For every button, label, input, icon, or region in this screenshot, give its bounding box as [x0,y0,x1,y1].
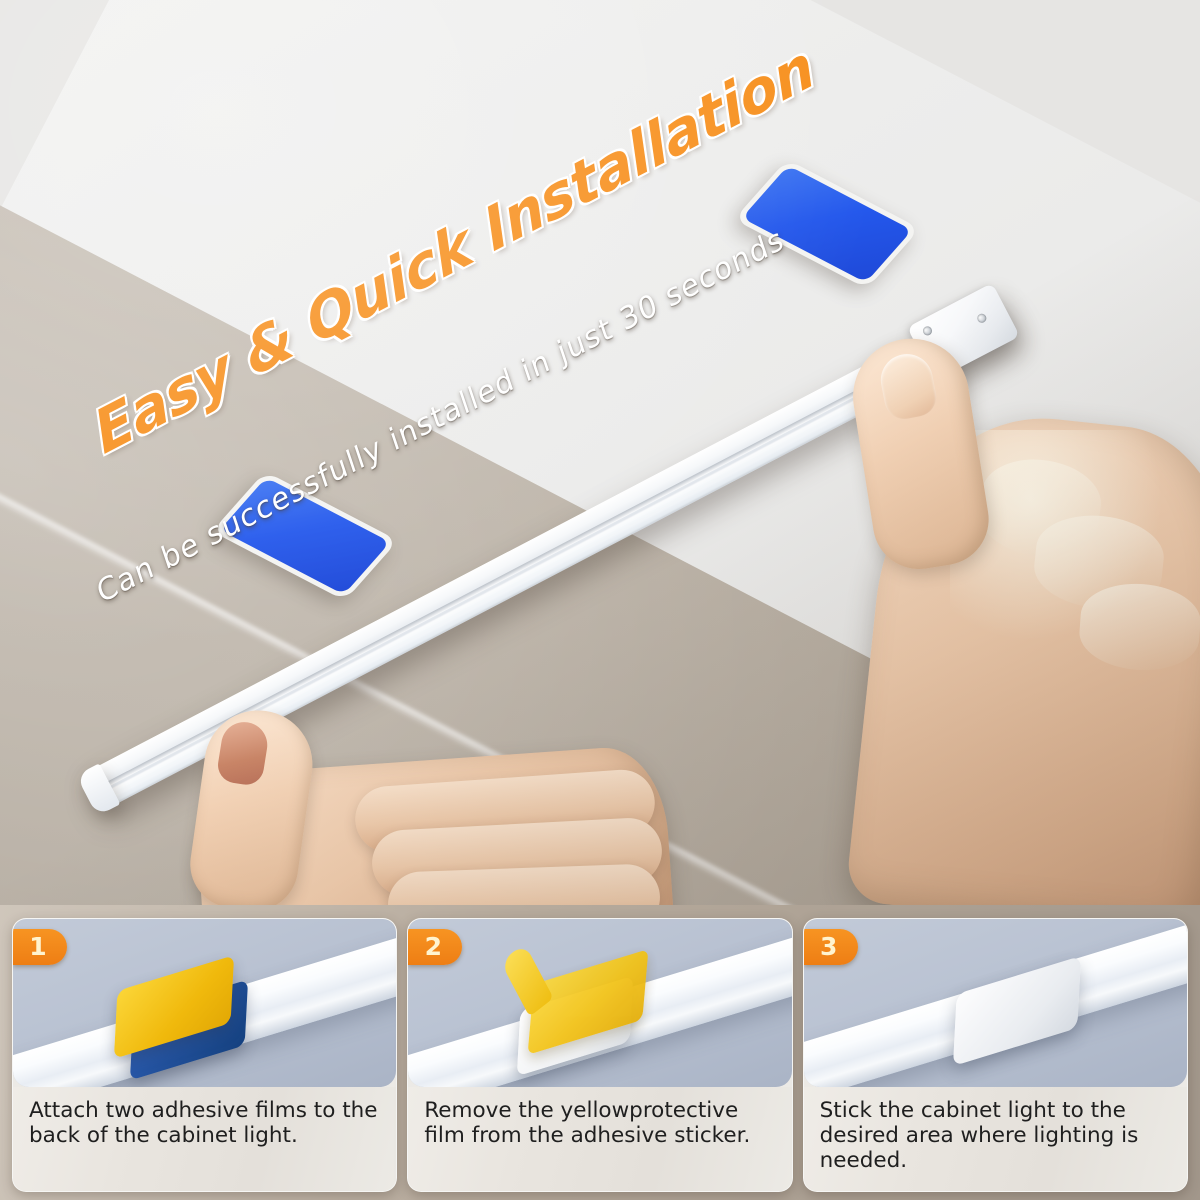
step-1-badge: 1 [13,929,67,965]
step-card-1: 1 Attach two adhesive films to the back … [12,918,397,1192]
hero-scene: Easy & Quick Installation Can be success… [0,0,1200,905]
step-card-3: 3 Stick the cabinet light to the desired… [803,918,1188,1192]
step-2-photo: 2 [408,919,791,1087]
step-3-caption: Stick the cabinet light to the desired a… [804,1087,1187,1191]
right-hand-light-glow [950,430,1180,660]
step-3-badge: 3 [804,929,858,965]
step-card-2: 2 Remove the yellowprotective film from … [407,918,792,1192]
step-1-photo: 1 [13,919,396,1087]
step-1-caption: Attach two adhesive films to the back of… [13,1087,396,1191]
step-3-photo: 3 [804,919,1187,1087]
left-hand [120,700,680,905]
step-3-applied-pad [953,956,1081,1066]
right-hand [830,300,1200,905]
step-2-caption: Remove the yellowprotective film from th… [408,1087,791,1191]
step-2-badge: 2 [408,929,462,965]
installation-steps-strip: 1 Attach two adhesive films to the back … [0,905,1200,1200]
